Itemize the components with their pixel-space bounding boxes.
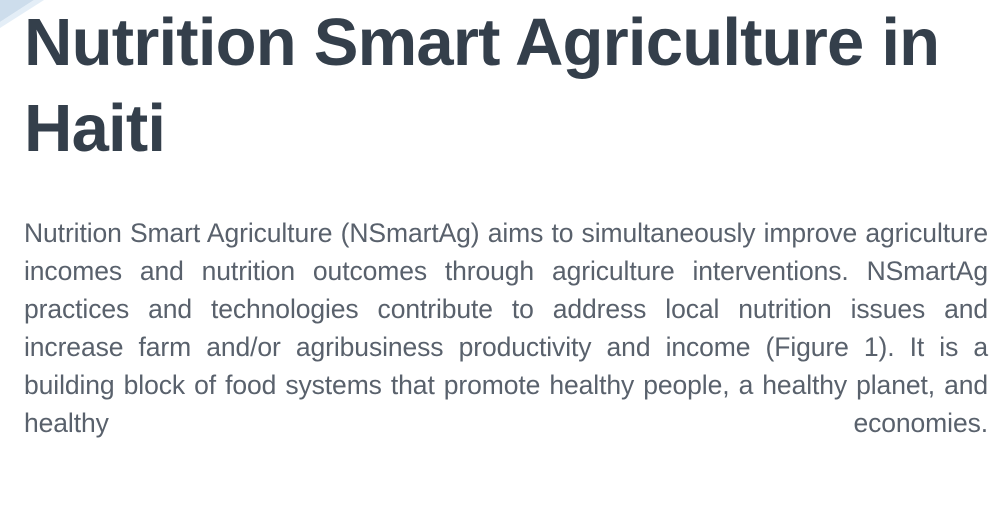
content-column: Nutrition Smart Agriculture in Haiti: [24, 0, 988, 172]
page-title: Nutrition Smart Agriculture in Haiti: [24, 0, 988, 172]
intro-paragraph: Nutrition Smart Agriculture (NSmartAg) a…: [24, 214, 988, 480]
document-page: Nutrition Smart Agriculture in Haiti Nut…: [0, 0, 1000, 505]
